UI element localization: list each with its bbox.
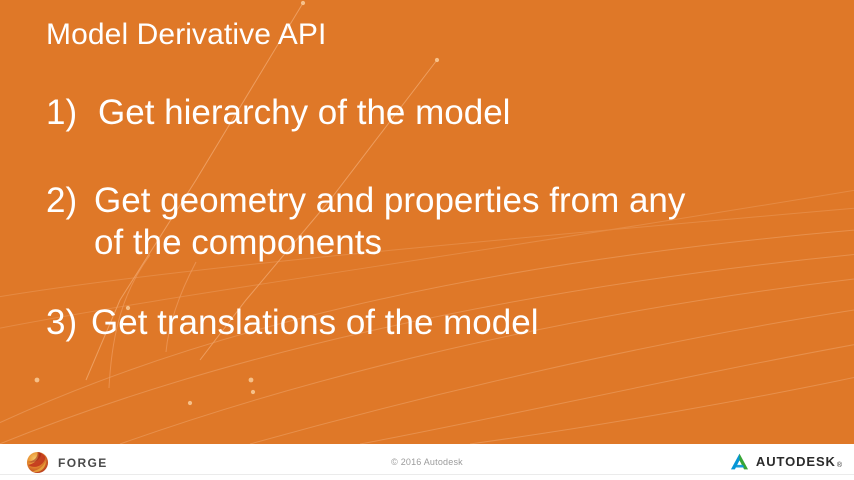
autodesk-wordmark: AUTODESK <box>756 454 836 469</box>
list-item-marker: 1) <box>46 92 98 134</box>
presentation-slide: Model Derivative API 1) Get hierarchy of… <box>0 0 854 480</box>
autodesk-trademark-symbol: ® <box>836 462 842 471</box>
copyright-text: © 2016 Autodesk <box>0 457 854 467</box>
slide-body: Model Derivative API 1) Get hierarchy of… <box>0 0 854 444</box>
list-item-marker: 2) <box>46 180 94 222</box>
list-item-marker: 3) <box>46 302 91 344</box>
bullet-list: 1) Get hierarchy of the model 2) Get geo… <box>46 92 826 344</box>
autodesk-logo: AUTODESK ® <box>729 452 842 471</box>
list-item-label: Get geometry and properties from any of … <box>94 180 826 264</box>
list-item: 3) Get translations of the model <box>46 302 826 344</box>
list-item: 1) Get hierarchy of the model <box>46 92 826 134</box>
list-item-label: Get hierarchy of the model <box>98 92 826 134</box>
slide-footer: FORGE © 2016 Autodesk AUTODESK ® <box>0 444 854 480</box>
page-title: Model Derivative API <box>46 17 326 53</box>
autodesk-a-mark-icon <box>729 452 750 471</box>
list-item: 2) Get geometry and properties from any … <box>46 180 826 264</box>
list-item-label: Get translations of the model <box>91 302 826 344</box>
